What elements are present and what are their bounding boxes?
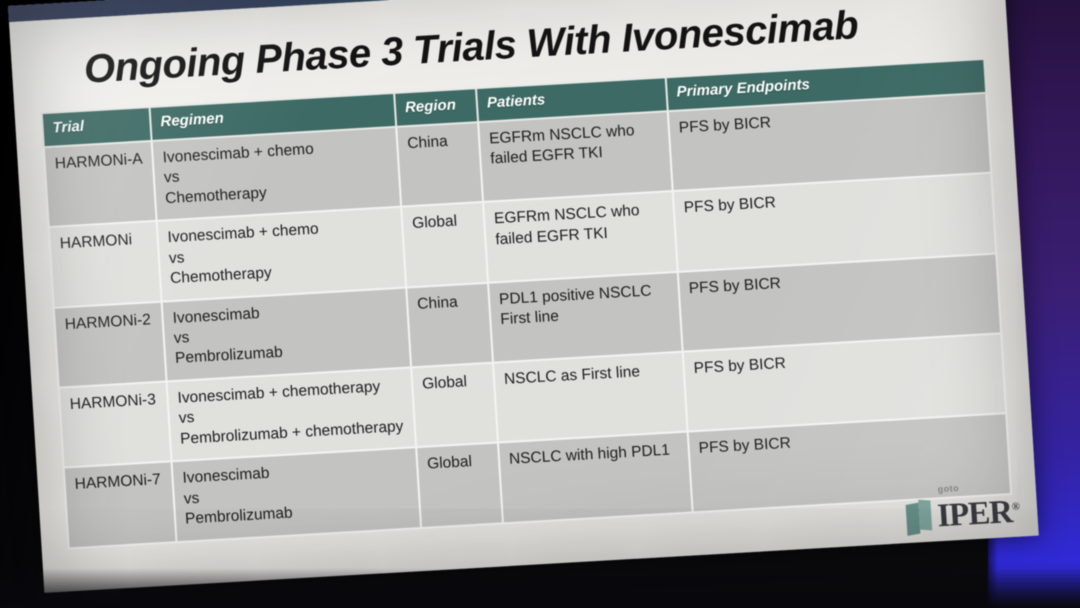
trials-table: Trial Regimen Region Patients Primary En… [41, 58, 1013, 549]
cell-region: China [396, 122, 483, 207]
cell-patients: EGFRm NSCLC who failed EGFR TKI [483, 191, 678, 282]
patients-line-1: NSCLC with high PDL1 [508, 440, 679, 470]
patients-line-1: NSCLC as First line [503, 360, 674, 390]
presentation-slide: Ongoing Phase 3 Trials With Ivonescimab … [8, 0, 1039, 593]
logo-main-text: IPER® [936, 494, 1020, 535]
cell-regimen: Ivonescimab vs Pembrolizumab [172, 447, 422, 541]
cell-patients: NSCLC as First line [493, 352, 688, 443]
cell-patients: NSCLC with high PDL1 [498, 432, 693, 523]
open-book-icon [905, 500, 933, 535]
cell-trial: HARMONi-7 [64, 462, 177, 548]
cell-patients: EGFRm NSCLC who failed EGFR TKI [478, 111, 673, 202]
cell-trial: HARMONi [49, 221, 162, 307]
book-page-right [918, 500, 932, 531]
cell-trial: HARMONi-A [44, 141, 157, 227]
projected-slide-wrapper: Ongoing Phase 3 Trials With Ivonescimab … [8, 0, 1040, 605]
cell-regimen: Ivonescimab + chemo vs Chemotherapy [157, 207, 407, 301]
cell-trial: HARMONi-3 [59, 381, 172, 467]
room-background-bottom [0, 568, 1080, 608]
cell-region: Global [416, 443, 503, 528]
iper-logo: goto IPER® [905, 495, 1020, 535]
presentation-room-photo: Ongoing Phase 3 Trials With Ivonescimab … [0, 0, 1080, 608]
cell-regimen: Ivonescimab + chemotherapy vs Pembrolizu… [167, 367, 417, 461]
cell-region: Global [401, 202, 488, 287]
cell-region: China [406, 282, 493, 367]
slide-template-blue-band [8, 0, 625, 22]
cell-trial: HARMONi-2 [54, 301, 167, 387]
cell-regimen: Ivonescimab vs Pembrolizumab [162, 287, 412, 381]
table-body: HARMONi-A Ivonescimab + chemo vs Chemoth… [44, 93, 1011, 548]
logo-iper-text: IPER [936, 494, 1013, 534]
registered-mark-icon: ® [1011, 501, 1019, 513]
cell-region: Global [411, 363, 498, 448]
logo-goto-text: goto [937, 484, 959, 494]
column-header-region: Region [394, 88, 478, 126]
cell-regimen: Ivonescimab + chemo vs Chemotherapy [152, 127, 402, 221]
logo-wordmark: goto IPER® [936, 496, 1020, 534]
cell-patients: PDL1 positive NSCLC First line [488, 271, 683, 362]
